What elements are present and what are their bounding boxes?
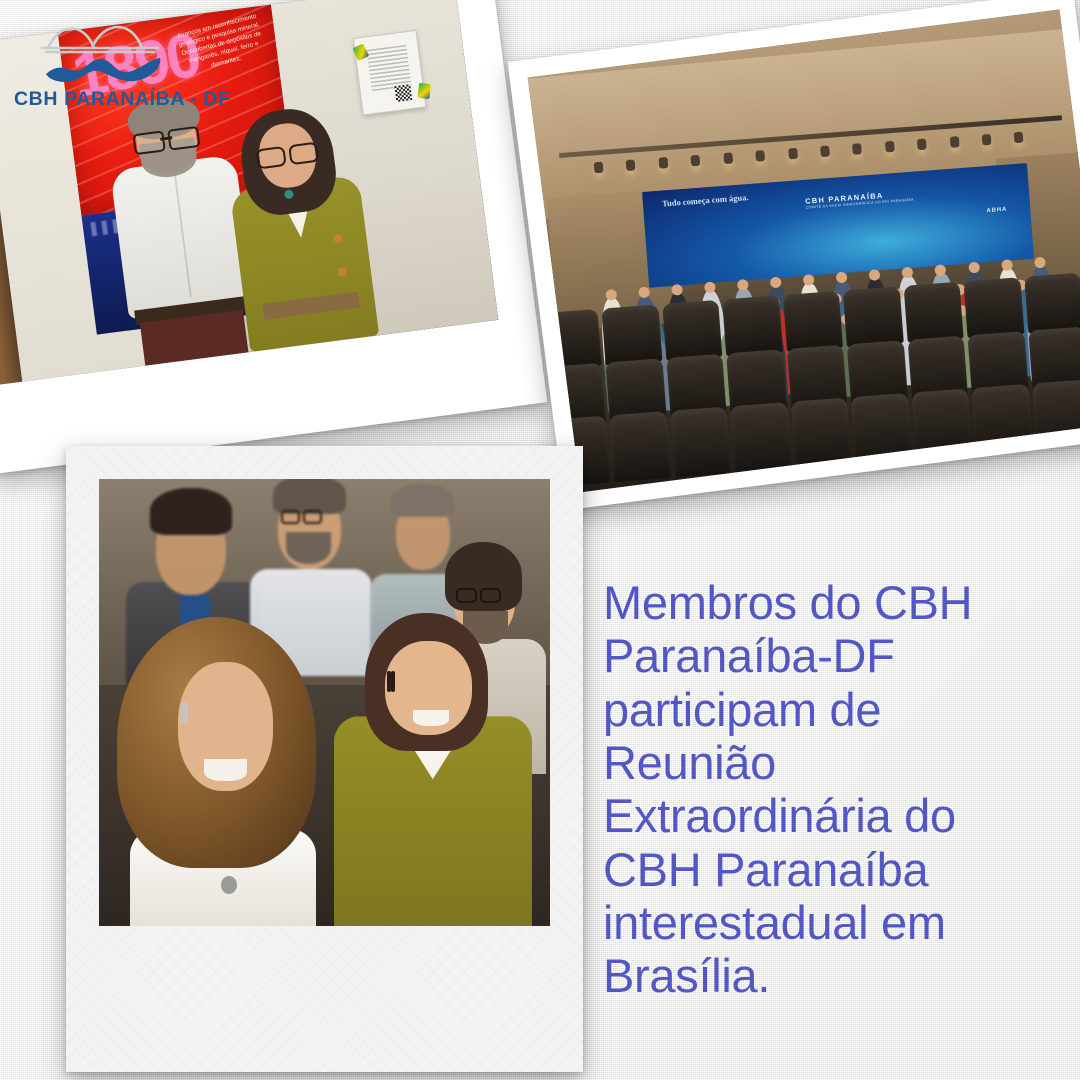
headline-line: Brasília. [603, 949, 1027, 1002]
headline-line: interestadual em [603, 896, 1027, 949]
person-front-curly-hair [117, 604, 333, 926]
brand-logo-block: CBH PARANAÍBA - DF [14, 18, 244, 111]
photo-selfie-image [99, 479, 550, 926]
banner-slogan: Tudo começa com água. [662, 193, 749, 209]
headline-line: CBH Paranaíba [603, 843, 1027, 896]
headline-line: participam de [603, 683, 1027, 736]
headline-line: Reunião [603, 736, 1027, 789]
wall-framed-certificate [353, 30, 427, 116]
social-media-poster: CBH PARANAÍBA - DF 1890 Avanços em recon… [0, 0, 1080, 1080]
photo-group-frame: Tudo começa com água. CBH PARANAÍBA COMI… [508, 0, 1080, 510]
headline-line: Extraordinária do [603, 789, 1027, 842]
headline-line: Membros do CBH [603, 576, 1027, 629]
headline-line: Paranaíba-DF [603, 629, 1027, 682]
person-front-olive-blazer [334, 613, 532, 926]
headline-text: Membros do CBH Paranaíba-DF participam d… [603, 576, 1027, 1003]
photo-selfie-frame [66, 446, 583, 1072]
river-bridge-wave-logo-icon [36, 18, 186, 86]
photo-group-image: Tudo começa com água. CBH PARANAÍBA COMI… [528, 10, 1080, 493]
brand-name-label: CBH PARANAÍBA - DF [14, 88, 244, 111]
